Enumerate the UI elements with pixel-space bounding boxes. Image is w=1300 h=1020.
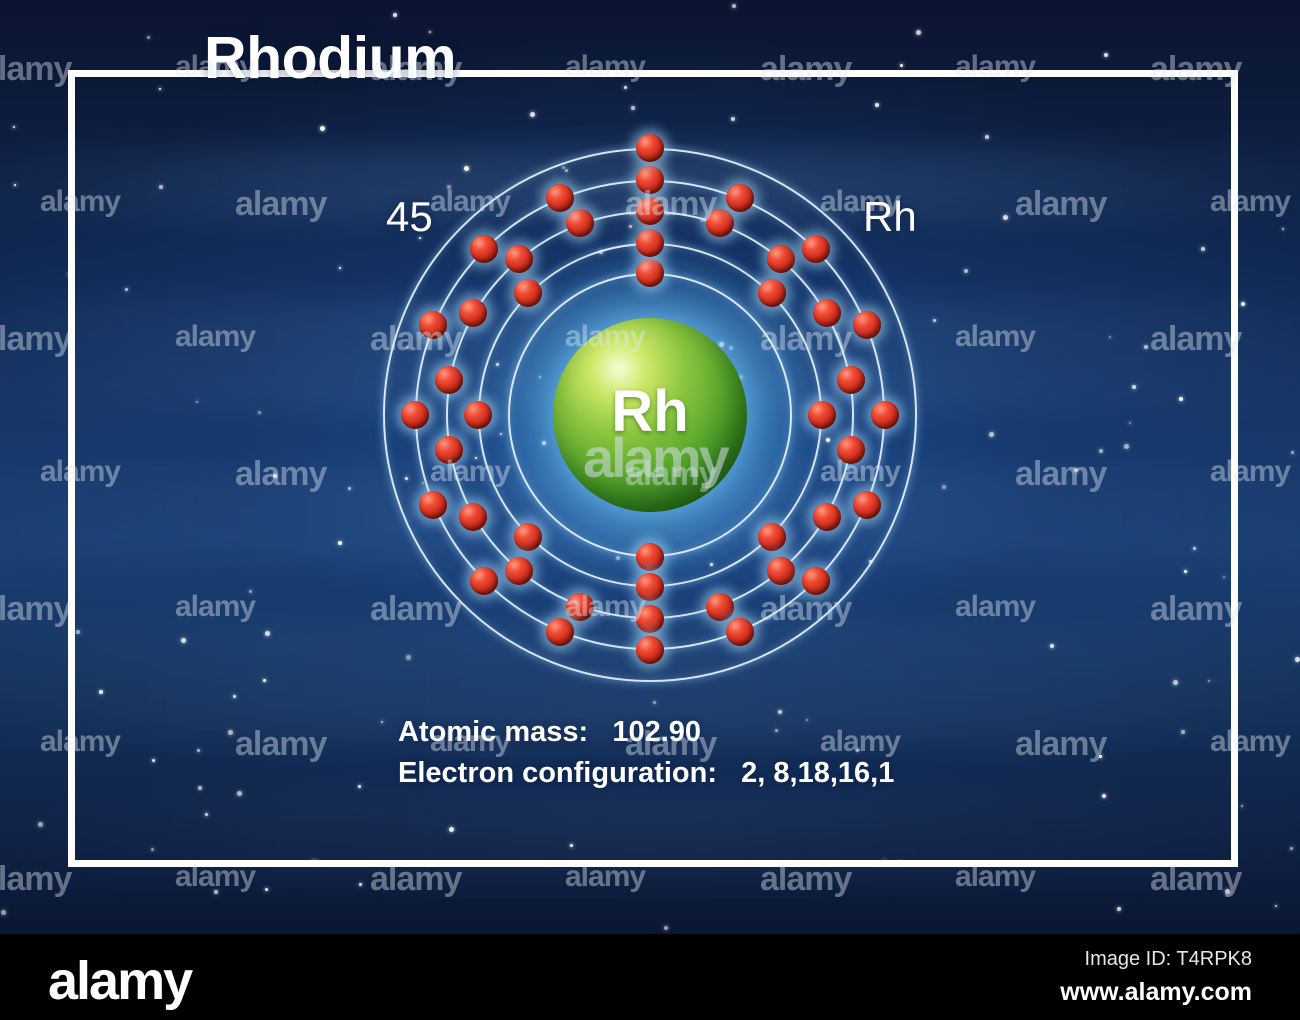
electron bbox=[401, 401, 429, 429]
electron bbox=[802, 567, 830, 595]
star bbox=[1104, 53, 1108, 57]
electron bbox=[636, 229, 664, 257]
electron bbox=[636, 197, 664, 225]
electron bbox=[566, 593, 594, 621]
star bbox=[664, 926, 668, 930]
electron bbox=[726, 618, 754, 646]
element-info-block: Atomic mass: 102.90 Electron configurati… bbox=[398, 712, 894, 795]
electron bbox=[464, 401, 492, 429]
atom-nucleus: Rh bbox=[553, 318, 747, 512]
electron bbox=[505, 245, 533, 273]
star bbox=[14, 184, 16, 186]
electron bbox=[470, 235, 498, 263]
atomic-mass-value: 102.90 bbox=[612, 716, 701, 748]
electron-configuration-line: Electron configuration: 2, 8,18,16,1 bbox=[398, 753, 894, 794]
electron bbox=[802, 235, 830, 263]
electron bbox=[514, 523, 542, 551]
atomic-number-label: 45 bbox=[386, 193, 433, 241]
electron bbox=[505, 557, 533, 585]
electron bbox=[459, 503, 487, 531]
element-symbol-label: Rh bbox=[863, 193, 917, 241]
electron bbox=[435, 366, 463, 394]
electron bbox=[636, 543, 664, 571]
poster-artwork: Rhodium 45 Rh Rh Atomic mass: 102.90 Ele… bbox=[0, 0, 1300, 934]
electron bbox=[636, 573, 664, 601]
electron bbox=[837, 436, 865, 464]
electron bbox=[758, 279, 786, 307]
star bbox=[265, 888, 268, 891]
electron bbox=[636, 134, 664, 162]
electron bbox=[808, 401, 836, 429]
electron bbox=[871, 401, 899, 429]
star bbox=[359, 883, 362, 886]
star bbox=[393, 13, 397, 17]
electron bbox=[566, 209, 594, 237]
electron bbox=[459, 299, 487, 327]
electron bbox=[546, 618, 574, 646]
atomic-mass-line: Atomic mass: 102.90 bbox=[398, 712, 894, 753]
atomic-mass-label: Atomic mass: bbox=[398, 716, 588, 748]
electron bbox=[767, 557, 795, 585]
electron bbox=[706, 593, 734, 621]
electron bbox=[706, 209, 734, 237]
electron bbox=[813, 299, 841, 327]
electron bbox=[853, 491, 881, 519]
footer-bar: alamy Image ID: T4RPK8 www.alamy.com bbox=[0, 934, 1300, 1020]
star bbox=[732, 4, 736, 8]
star bbox=[1295, 657, 1300, 662]
star bbox=[1241, 805, 1243, 807]
electron bbox=[636, 166, 664, 194]
star bbox=[214, 890, 218, 894]
star bbox=[147, 36, 150, 39]
electron bbox=[636, 636, 664, 664]
alamy-url[interactable]: www.alamy.com bbox=[852, 978, 1252, 1007]
electron-configuration-value: 2, 8,18,16,1 bbox=[741, 757, 894, 789]
electron-configuration-label: Electron configuration: bbox=[398, 757, 717, 789]
star bbox=[1117, 907, 1121, 911]
electron bbox=[435, 436, 463, 464]
alamy-logo: alamy bbox=[48, 950, 191, 1012]
electron bbox=[636, 605, 664, 633]
electron bbox=[636, 259, 664, 287]
electron bbox=[726, 184, 754, 212]
poster-stage: Rhodium 45 Rh Rh Atomic mass: 102.90 Ele… bbox=[0, 0, 1300, 1020]
star bbox=[900, 64, 903, 67]
star bbox=[1241, 302, 1245, 306]
nucleus-symbol-text: Rh bbox=[611, 378, 688, 445]
star bbox=[1290, 847, 1293, 850]
image-id-text: Image ID: T4RPK8 bbox=[852, 948, 1252, 971]
star bbox=[1282, 228, 1284, 230]
star bbox=[1291, 451, 1294, 454]
page-title: Rhodium bbox=[190, 28, 470, 90]
star bbox=[13, 126, 15, 128]
electron bbox=[419, 491, 447, 519]
electron bbox=[813, 503, 841, 531]
watermark-text: alamy bbox=[0, 50, 71, 89]
electron bbox=[419, 311, 447, 339]
star bbox=[38, 822, 43, 827]
star bbox=[1225, 889, 1230, 894]
electron bbox=[853, 311, 881, 339]
electron bbox=[767, 245, 795, 273]
electron bbox=[546, 184, 574, 212]
electron bbox=[837, 366, 865, 394]
star bbox=[1, 910, 6, 915]
star bbox=[916, 30, 921, 35]
electron bbox=[758, 523, 786, 551]
star bbox=[1275, 905, 1277, 907]
electron bbox=[514, 279, 542, 307]
electron bbox=[470, 567, 498, 595]
